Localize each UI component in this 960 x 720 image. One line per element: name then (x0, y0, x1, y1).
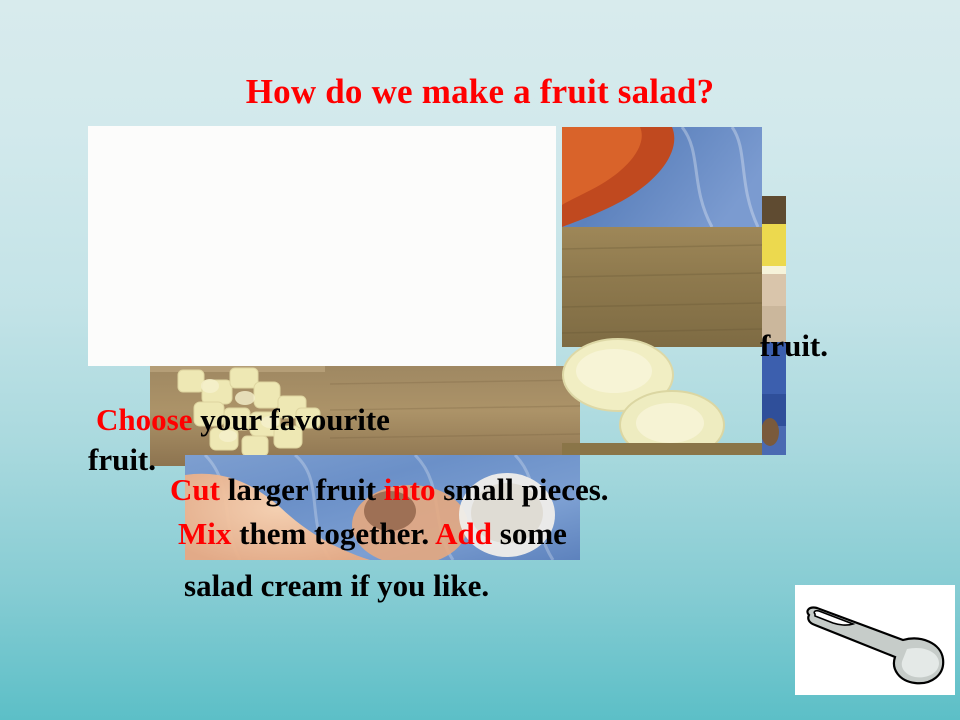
step-mix-line: Mix them together. Add some (178, 518, 567, 551)
fruit-pile-photo (88, 126, 556, 366)
keyword-add: Add (435, 516, 492, 551)
step-choose-tail: fruit. (760, 330, 828, 363)
cutting-apple-photo (562, 127, 762, 455)
step-choose-line2: fruit. (88, 444, 156, 477)
step-cut-middle: larger fruit (220, 472, 384, 507)
step-cut-line: Cut larger fruit into small pieces. (170, 474, 609, 507)
step-choose-rest1: your favourite (192, 402, 389, 437)
keyword-cut: Cut (170, 472, 220, 507)
keyword-mix: Mix (178, 516, 231, 551)
cutting-apple-graphic (562, 127, 762, 455)
keyword-choose: Choose (96, 402, 192, 437)
page-title: How do we make a fruit salad? (0, 72, 960, 112)
step-cut-rest: small pieces. (435, 472, 608, 507)
spoon-clipart (795, 585, 955, 695)
lemon-strip-photo (762, 196, 786, 455)
slide-canvas: How do we make a fruit salad? (0, 0, 960, 720)
lemon-strip-graphic (762, 196, 786, 455)
spoon-icon (795, 585, 955, 695)
step-choose-line1: Choose your favourite (96, 404, 390, 437)
step-mix-continuation: salad cream if you like. (184, 570, 489, 603)
keyword-into: into (384, 472, 436, 507)
photo-white-background (88, 126, 556, 366)
step-mix-rest: some (492, 516, 567, 551)
step-mix-middle: them together. (231, 516, 435, 551)
